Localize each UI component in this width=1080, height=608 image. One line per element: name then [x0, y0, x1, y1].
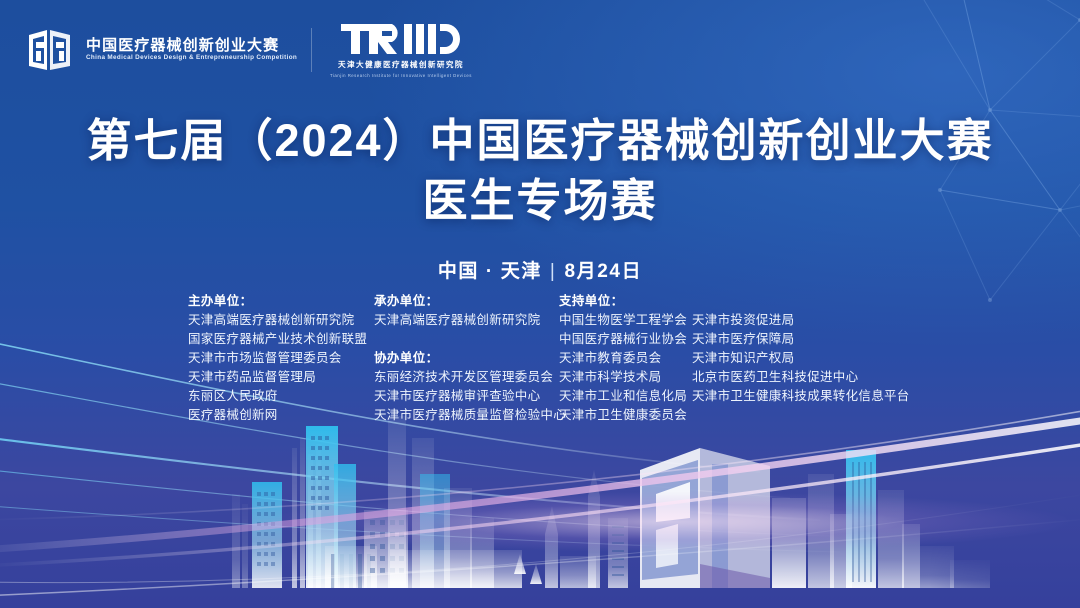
supporter-item: 中国生物医学工程学会 [559, 311, 692, 330]
page-subtitle: 医生专场赛 [0, 172, 1080, 230]
organizers-column-supporter-a: 支持单位： 中国生物医学工程学会 中国医疗器械行业协会 天津市教育委员会 天津市… [559, 292, 692, 425]
host-item: 天津市市场监督管理委员会 [188, 349, 374, 368]
co-organizer-item: 天津市医疗器械审评查验中心 [374, 387, 559, 406]
logo-divider [311, 28, 312, 72]
supporter-item: 中国医疗器械行业协会 [559, 330, 692, 349]
host-heading: 主办单位： [188, 292, 374, 311]
title-block: 第七届（2024）中国医疗器械创新创业大赛 医生专场赛 [0, 112, 1080, 229]
supporter-item: 天津市知识产权局 [692, 349, 902, 368]
event-date: 8月24日 [564, 261, 642, 282]
supporter-item: 天津市工业和信息化局 [559, 387, 692, 406]
skyline-gate-logo-building [508, 444, 770, 588]
horizon-glow [0, 466, 1080, 556]
page-title: 第七届（2024）中国医疗器械创新创业大赛 [0, 112, 1080, 170]
event-meta: 中国 · 天津|8月24日 [0, 256, 1080, 283]
competition-name-en: China Medical Devices Design & Entrepren… [86, 55, 297, 61]
triid-name-cn: 天津大健康医疗器械创新研究院 [338, 59, 464, 70]
triid-logo[interactable]: 天津大健康医疗器械创新研究院 Tianjin Research Institut… [330, 22, 472, 78]
organizers-block: 主办单位： 天津高端医疗器械创新研究院 国家医疗器械产业技术创新联盟 天津市市场… [188, 292, 902, 425]
host-item: 天津市药品监督管理局 [188, 368, 374, 387]
supporter-item: 天津市投资促进局 [692, 311, 902, 330]
event-poster: 中国医疗器械创新创业大赛 China Medical Devices Desig… [0, 0, 1080, 608]
open-door-gate-icon [26, 26, 76, 74]
co-organizer-item: 天津市医疗器械质量监督检验中心 [374, 406, 559, 425]
co-organizer-item: 东丽经济技术开发区管理委员会 [374, 368, 559, 387]
co-organizer-heading: 协办单位： [374, 349, 559, 368]
column-spacer [374, 330, 559, 349]
competition-logo-text: 中国医疗器械创新创业大赛 China Medical Devices Desig… [86, 38, 293, 61]
triid-name-en: Tianjin Research Institute for Innovativ… [330, 73, 472, 78]
host-item: 国家医疗器械产业技术创新联盟 [188, 330, 374, 349]
header-logos: 中国医疗器械创新创业大赛 China Medical Devices Desig… [26, 22, 472, 78]
host-item: 医疗器械创新网 [188, 406, 374, 425]
supporter-item: 天津市科学技术局 [559, 368, 692, 387]
host-item: 东丽区人民政府 [188, 387, 374, 406]
light-swoosh [0, 400, 1080, 608]
event-location: 中国 · 天津 [438, 261, 542, 282]
organizers-column-organizer: 承办单位： 天津高端医疗器械创新研究院 协办单位： 东丽经济技术开发区管理委员会… [374, 292, 559, 425]
supporter-heading: 支持单位： [559, 292, 692, 311]
organizers-column-supporter-b: 天津市投资促进局 天津市医疗保障局 天津市知识产权局 北京市医药卫生科技促进中心… [692, 292, 902, 406]
organizer-item: 天津高端医疗器械创新研究院 [374, 311, 559, 330]
supporter-item: 天津市卫生健康科技成果转化信息平台 [692, 387, 902, 406]
china-medical-device-competition-logo[interactable]: 中国医疗器械创新创业大赛 China Medical Devices Desig… [26, 26, 293, 74]
supporter-item: 北京市医药卫生科技促进中心 [692, 368, 902, 387]
supporter-item: 天津市教育委员会 [559, 349, 692, 368]
triid-wordmark-icon [341, 22, 461, 56]
meta-separator: | [550, 261, 557, 283]
organizer-heading: 承办单位： [374, 292, 559, 311]
supporter-item: 天津市医疗保障局 [692, 330, 902, 349]
supporter-item: 天津市卫生健康委员会 [559, 406, 692, 425]
organizers-column-host: 主办单位： 天津高端医疗器械创新研究院 国家医疗器械产业技术创新联盟 天津市市场… [188, 292, 374, 425]
host-item: 天津高端医疗器械创新研究院 [188, 311, 374, 330]
competition-name-cn: 中国医疗器械创新创业大赛 [86, 38, 293, 53]
